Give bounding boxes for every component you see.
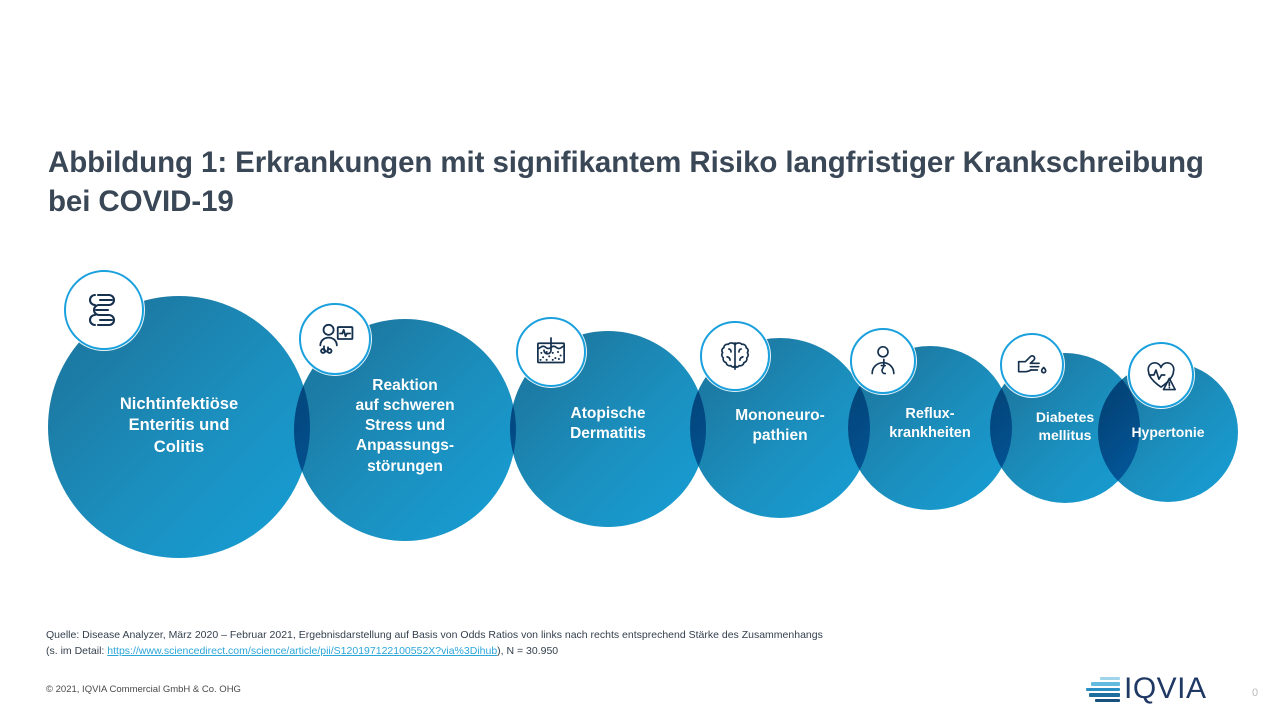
source-line-2-suffix: ), N = 30.950 xyxy=(497,645,558,657)
bubble-diagram: Nichtinfektiöse Enteritis und Colitis Re… xyxy=(0,0,1280,720)
source-line-2: (s. im Detail: https://www.sciencedirect… xyxy=(46,644,1046,660)
patient-monitor-icon[interactable] xyxy=(299,303,371,375)
hand-blood-drop-icon[interactable] xyxy=(1000,333,1064,397)
iqvia-logo-wordmark: IQVIA xyxy=(1124,674,1207,704)
source-line-2-prefix: (s. im Detail: xyxy=(46,645,107,657)
skin-follicle-icon[interactable] xyxy=(516,317,586,387)
intestine-icon[interactable] xyxy=(64,270,144,350)
source-line-1: Quelle: Disease Analyzer, März 2020 – Fe… xyxy=(46,628,1046,644)
brain-icon[interactable] xyxy=(700,321,770,391)
source-note: Quelle: Disease Analyzer, März 2020 – Fe… xyxy=(46,628,1046,660)
copyright-text: © 2021, IQVIA Commercial GmbH & Co. OHG xyxy=(46,684,241,695)
iqvia-logo: IQVIA xyxy=(1086,674,1207,704)
heart-ecg-warning-icon[interactable] xyxy=(1128,342,1194,408)
page-number: 0 xyxy=(1252,687,1258,699)
source-link[interactable]: https://www.sciencedirect.com/science/ar… xyxy=(107,645,497,657)
stomach-person-icon[interactable] xyxy=(850,328,916,394)
iqvia-logo-bars-icon xyxy=(1086,676,1120,703)
